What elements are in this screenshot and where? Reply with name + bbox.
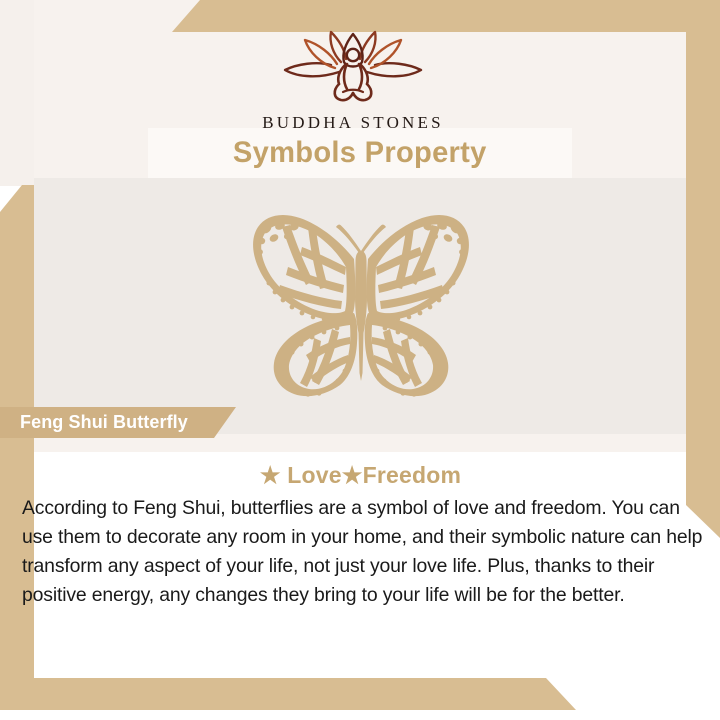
- frame-band-bottom: [0, 678, 600, 710]
- lotus-meditation-icon: [0, 28, 706, 109]
- page-title: Symbols Property: [233, 136, 487, 170]
- brand-logo: BUDDHA STONES: [0, 28, 706, 133]
- section-title-banner: Symbols Property: [148, 128, 572, 178]
- content-paragraph: According to Feng Shui, butterflies are …: [22, 494, 712, 610]
- butterfly-icon: [196, 205, 526, 415]
- frame-band-left: [0, 185, 34, 710]
- promo-card: BUDDHA STONES Symbols Property: [0, 0, 720, 720]
- content-subheading: ★ Love★Freedom: [34, 462, 687, 489]
- feature-tag-label: Feng Shui Butterfly: [0, 412, 188, 433]
- feature-tag-banner: Feng Shui Butterfly: [0, 407, 236, 438]
